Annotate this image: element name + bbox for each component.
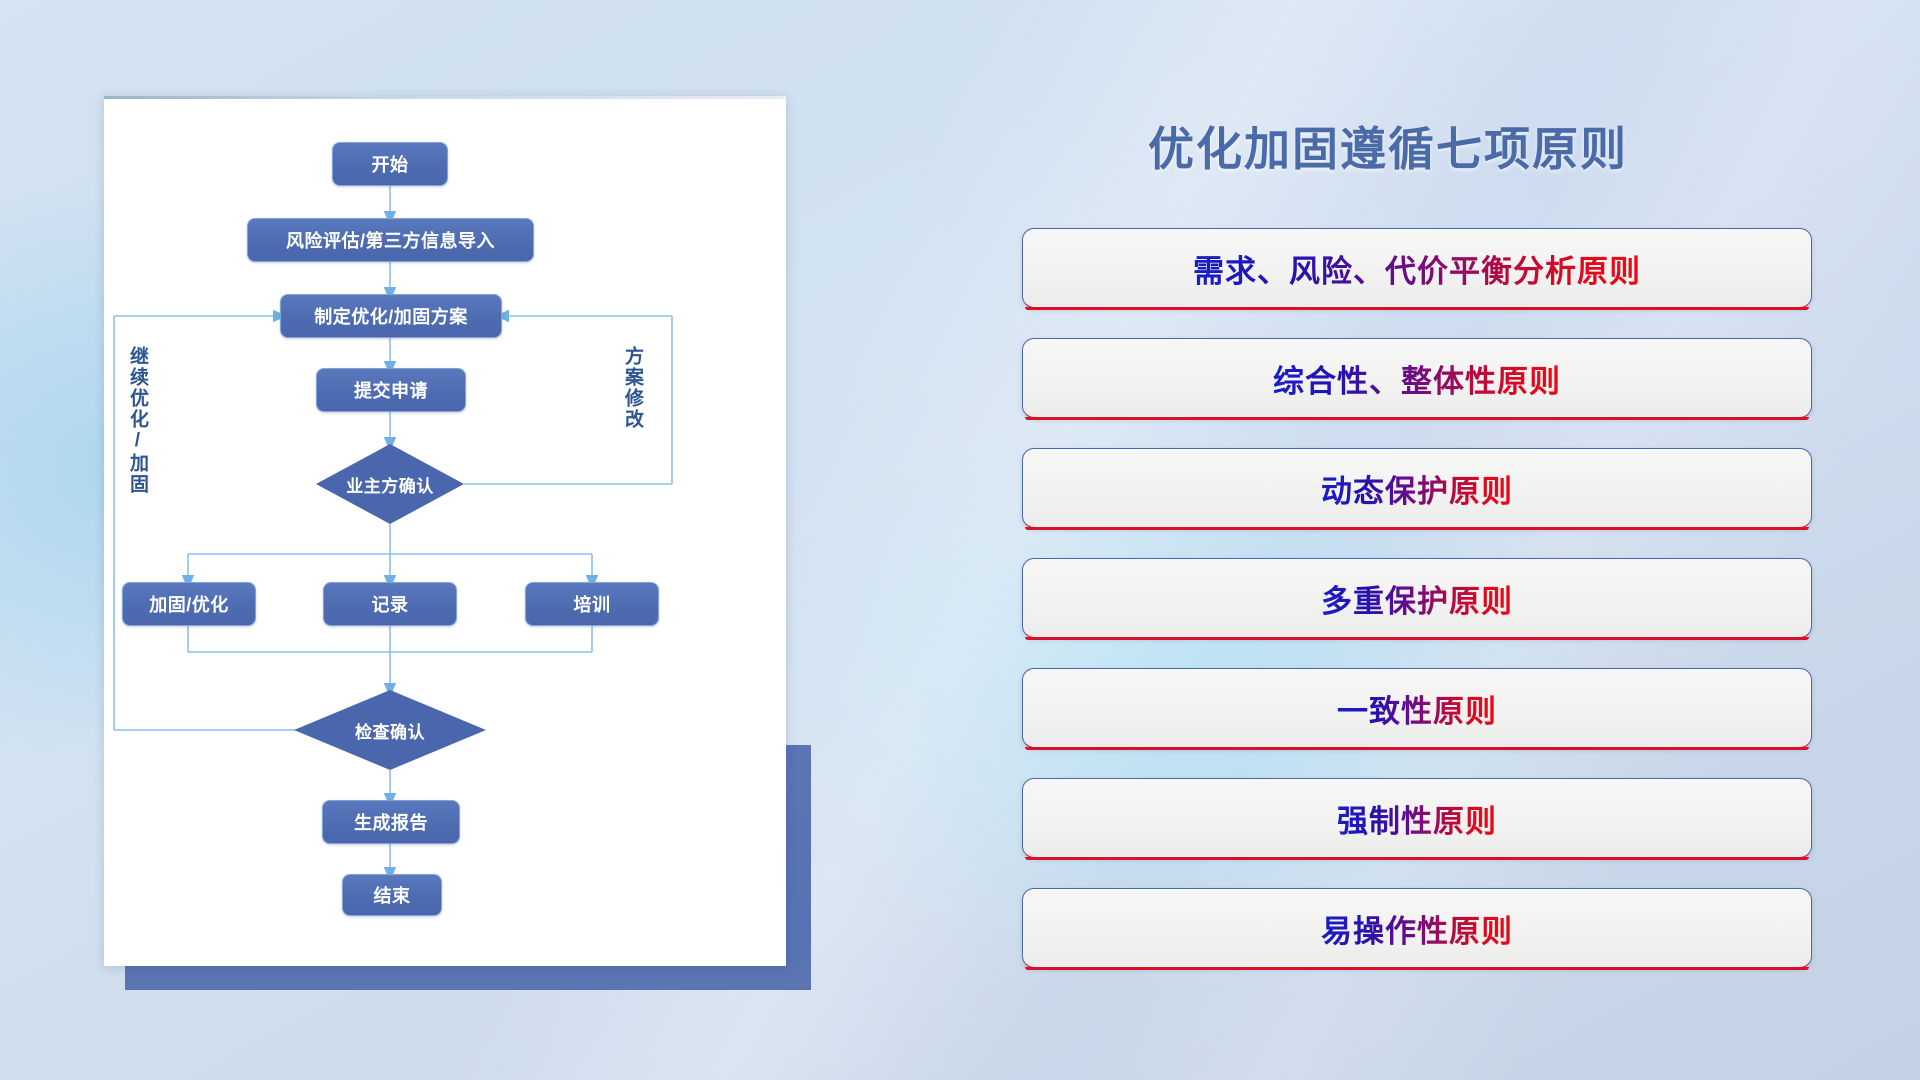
node-start[interactable]: 开始 — [332, 142, 448, 186]
principle-card[interactable]: 综合性、整体性原则 — [1022, 338, 1812, 418]
principle-card-label: 需求、风险、代价平衡分析原则 — [1193, 246, 1641, 291]
principles-list: 需求、风险、代价平衡分析原则 综合性、整体性原则 动态保护原则 多重保护原则 一… — [1022, 228, 1812, 998]
principle-card-label: 一致性原则 — [1337, 686, 1497, 731]
edge-label-continue-optimize: 继续优化/加固 — [127, 346, 147, 506]
principle-card[interactable]: 多重保护原则 — [1022, 558, 1812, 638]
node-owner-confirm-label: 业主方确认 — [316, 444, 464, 524]
node-training[interactable]: 培训 — [525, 582, 659, 626]
accent-block-horizontal — [125, 962, 811, 990]
node-check-confirm[interactable]: 检查确认 — [294, 690, 486, 770]
node-start-label: 开始 — [372, 151, 409, 177]
node-end-label: 结束 — [374, 882, 411, 908]
node-record-label: 记录 — [372, 591, 409, 617]
node-end[interactable]: 结束 — [342, 874, 442, 916]
principle-card[interactable]: 强制性原则 — [1022, 778, 1812, 858]
principle-card[interactable]: 动态保护原则 — [1022, 448, 1812, 528]
slide-root: 开始 风险评估/第三方信息导入 制定优化/加固方案 提交申请 业主方确认 加固/… — [0, 0, 1920, 1080]
node-submit-application-label: 提交申请 — [354, 377, 428, 403]
principle-card[interactable]: 易操作性原则 — [1022, 888, 1812, 968]
edge-label-plan-revision: 方案修改 — [622, 346, 642, 466]
principle-card[interactable]: 需求、风险、代价平衡分析原则 — [1022, 228, 1812, 308]
principle-card[interactable]: 一致性原则 — [1022, 668, 1812, 748]
node-owner-confirm[interactable]: 业主方确认 — [316, 444, 464, 524]
node-check-confirm-label: 检查确认 — [294, 690, 486, 770]
principle-card-label: 易操作性原则 — [1321, 906, 1513, 951]
principle-card-label: 综合性、整体性原则 — [1273, 356, 1561, 401]
principle-card-label: 动态保护原则 — [1321, 466, 1513, 511]
node-make-plan[interactable]: 制定优化/加固方案 — [280, 294, 502, 338]
node-generate-report[interactable]: 生成报告 — [322, 800, 460, 844]
principle-card-label: 多重保护原则 — [1321, 576, 1513, 621]
node-reinforce-optimize-label: 加固/优化 — [149, 591, 229, 617]
node-risk-assessment-label: 风险评估/第三方信息导入 — [286, 227, 495, 253]
principle-card-label: 强制性原则 — [1337, 796, 1497, 841]
node-training-label: 培训 — [574, 591, 611, 617]
node-generate-report-label: 生成报告 — [354, 809, 428, 835]
node-make-plan-label: 制定优化/加固方案 — [314, 303, 468, 329]
node-submit-application[interactable]: 提交申请 — [316, 368, 466, 412]
flowchart-panel: 开始 风险评估/第三方信息导入 制定优化/加固方案 提交申请 业主方确认 加固/… — [104, 96, 786, 966]
node-reinforce-optimize[interactable]: 加固/优化 — [122, 582, 256, 626]
node-record[interactable]: 记录 — [323, 582, 457, 626]
principles-title: 优化加固遵循七项原则 — [1148, 113, 1768, 179]
node-risk-assessment[interactable]: 风险评估/第三方信息导入 — [247, 218, 534, 262]
